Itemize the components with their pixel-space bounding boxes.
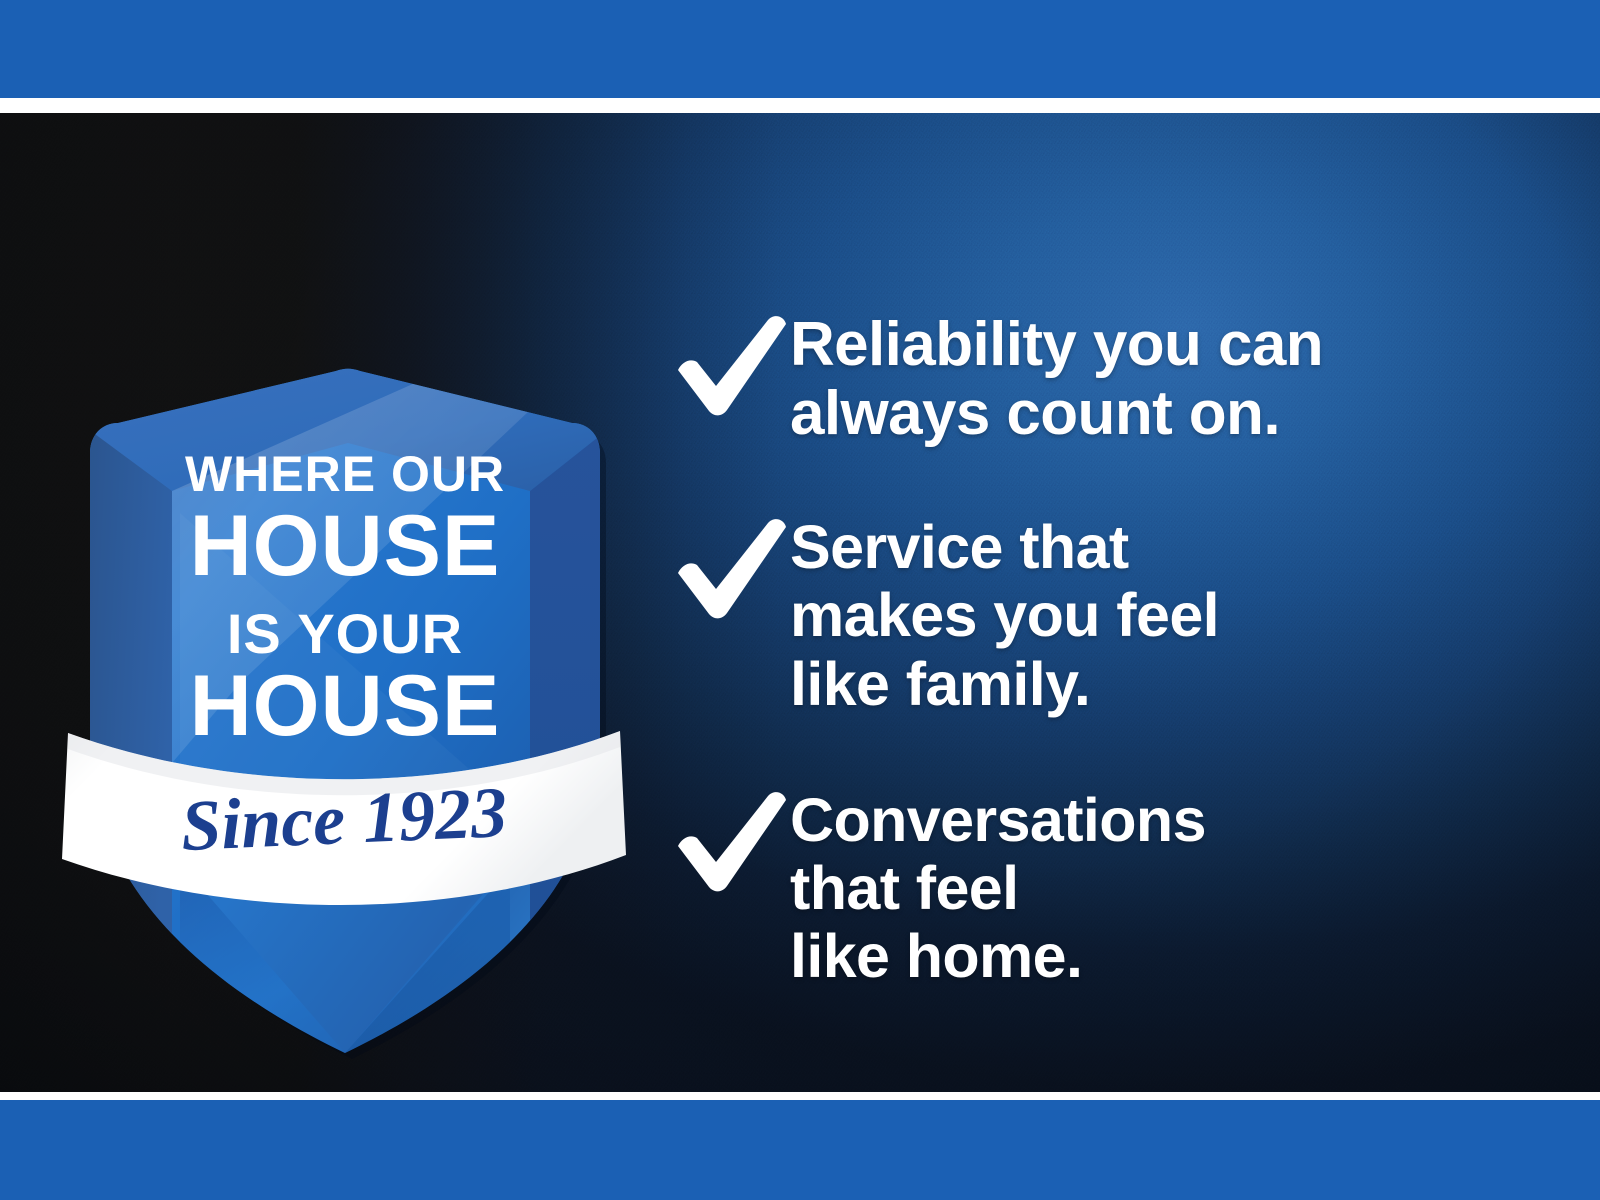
badge-line-2: HOUSE [190,498,501,594]
top-white-divider [0,98,1600,113]
list-item: Conversations that feel like home. [672,784,1532,991]
ribbon-text: Since 1923 [179,772,508,866]
benefit-text: Reliability you can always count on. [790,308,1323,449]
shield-left-facet [90,423,172,1063]
bottom-white-divider [0,1092,1600,1100]
list-item: Reliability you can always count on. [672,308,1532,449]
checkmark-icon [672,511,790,621]
list-item: Service that makes you feel like family. [672,511,1532,718]
benefits-list: Reliability you can always count on. Ser… [672,308,1532,991]
checkmark-icon [672,308,790,418]
badge-line-4: HOUSE [190,658,501,754]
checkmark-icon [672,784,790,894]
benefit-text: Conversations that feel like home. [790,784,1206,991]
bottom-brand-bar [0,1100,1600,1200]
benefit-text: Service that makes you feel like family. [790,511,1219,718]
top-brand-bar [0,0,1600,98]
promotional-graphic: WHERE OUR HOUSE IS YOUR HOUSE Since 1923 [0,0,1600,1200]
badge-line-1: WHERE OUR [185,446,505,502]
main-stage: WHERE OUR HOUSE IS YOUR HOUSE Since 1923 [0,113,1600,1092]
badge-line-3: IS YOUR [227,602,463,665]
shield-badge: WHERE OUR HOUSE IS YOUR HOUSE Since 1923 [60,263,630,1063]
